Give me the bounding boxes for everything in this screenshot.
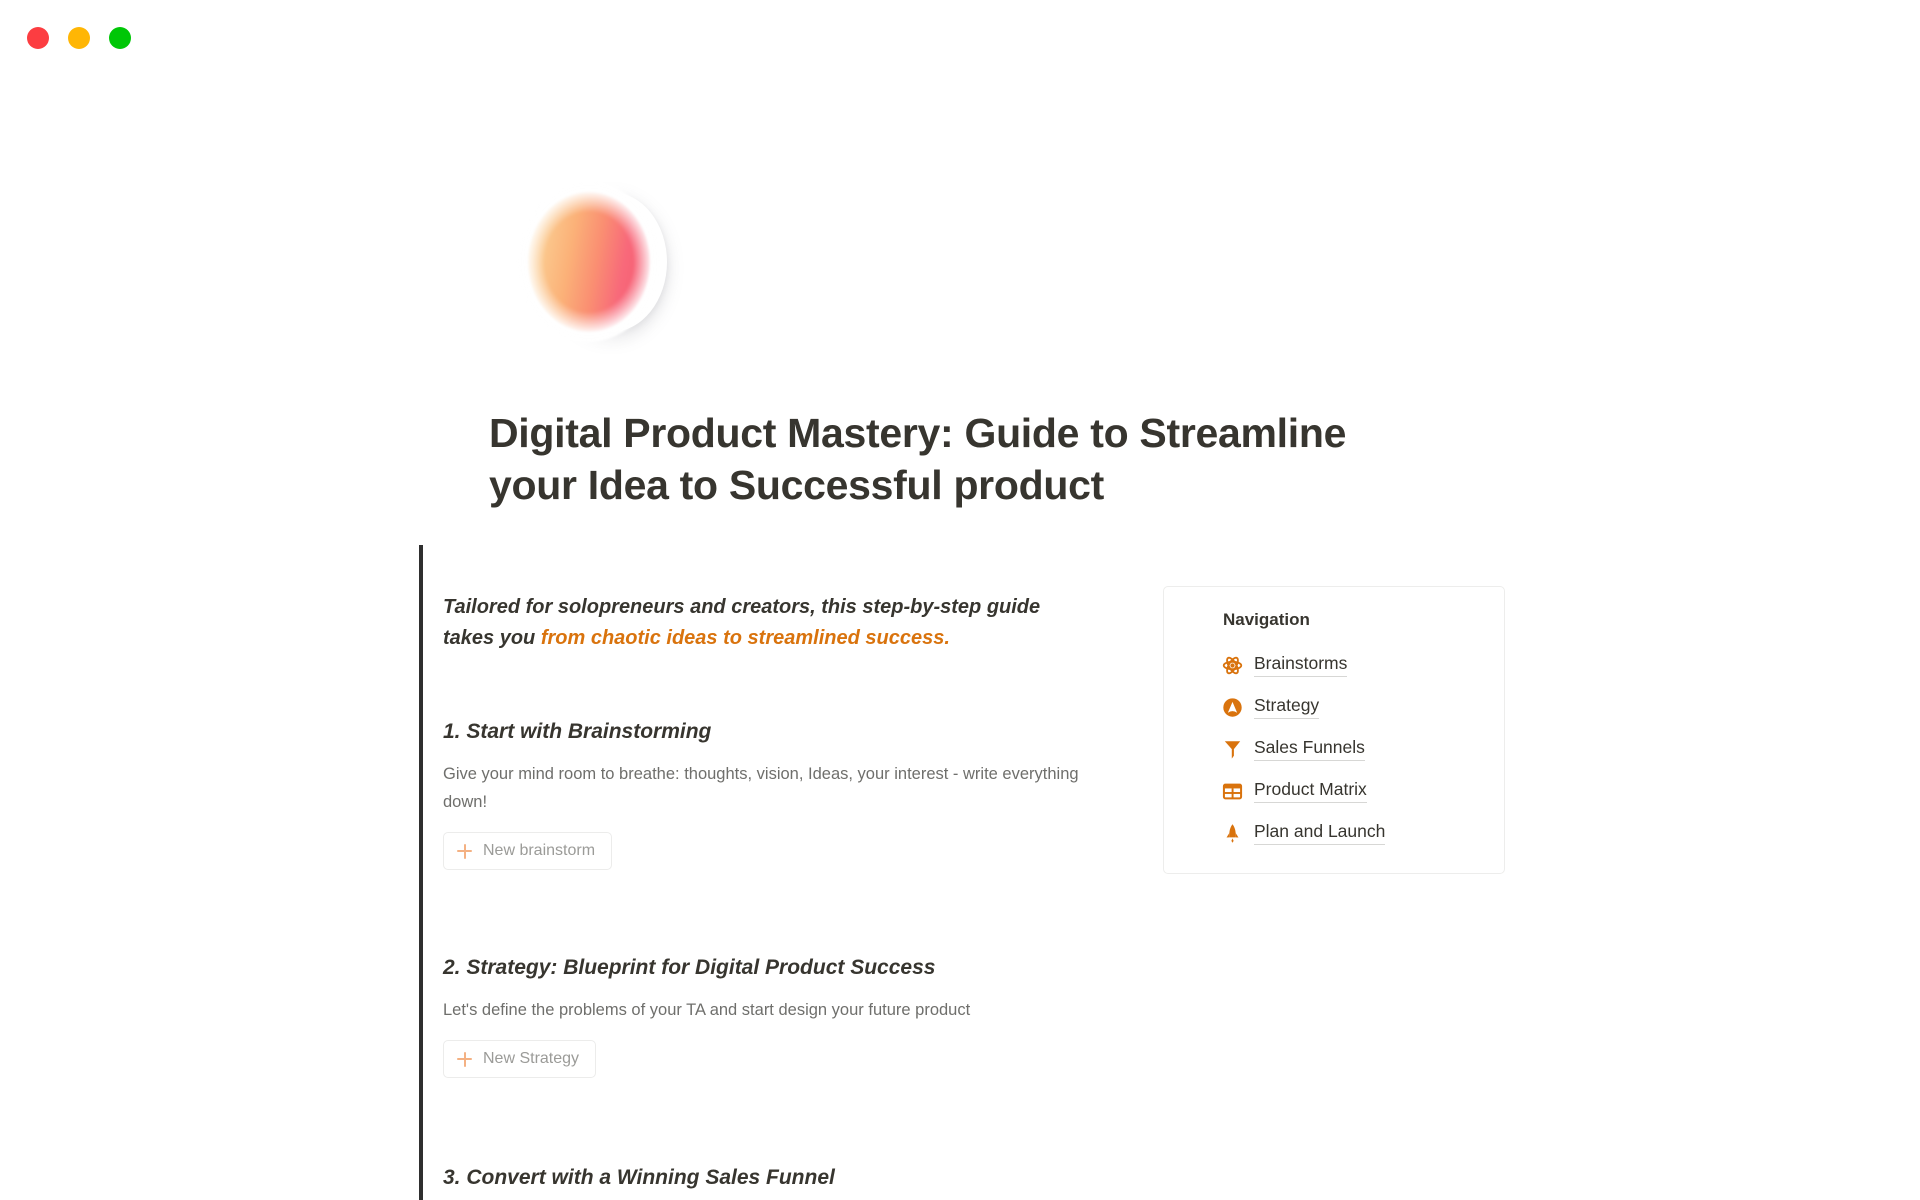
plus-icon [457,1052,472,1067]
rocket-icon [1222,823,1243,844]
new-brainstorm-button[interactable]: New brainstorm [443,832,612,870]
section-title: 2. Strategy: Blueprint for Digital Produ… [443,954,1103,982]
navigation-heading: Navigation [1223,610,1310,630]
section-body: Let's define the problems of your TA and… [443,996,1083,1024]
plus-icon [457,844,472,859]
nav-label: Brainstorms [1254,653,1347,677]
section-strategy: 2. Strategy: Blueprint for Digital Produ… [443,954,1103,1078]
nav-label: Product Matrix [1254,779,1367,803]
minimize-button[interactable] [68,27,90,49]
section-body: Give your mind room to breathe: thoughts… [443,760,1083,816]
logo-sphere-gradient [528,192,650,332]
atom-icon [1222,655,1243,676]
target-arrow-icon [1222,697,1243,718]
maximize-button[interactable] [109,27,131,49]
nav-label: Plan and Launch [1254,821,1385,845]
nav-item-plan-and-launch[interactable]: Plan and Launch [1222,812,1385,854]
window-controls [27,27,131,49]
table-grid-icon [1222,781,1243,802]
new-strategy-button[interactable]: New Strategy [443,1040,596,1078]
navigation-card: Navigation Brainstorms Strategy [1163,586,1505,874]
section-title: 3. Convert with a Winning Sales Funnel [443,1164,1103,1192]
new-strategy-label: New Strategy [483,1050,579,1068]
window-titlebar [0,0,1920,78]
close-button[interactable] [27,27,49,49]
section-brainstorming: 1. Start with Brainstorming Give your mi… [443,718,1103,870]
funnel-icon [1222,739,1243,760]
nav-item-brainstorms[interactable]: Brainstorms [1222,644,1385,686]
intro-highlight-text: from chaotic ideas to streamlined succes… [541,627,950,649]
nav-item-product-matrix[interactable]: Product Matrix [1222,770,1385,812]
intro-paragraph: Tailored for solopreneurs and creators, … [443,592,1078,654]
main-content: Tailored for solopreneurs and creators, … [443,592,1103,1192]
nav-item-sales-funnels[interactable]: Sales Funnels [1222,728,1385,770]
new-brainstorm-label: New brainstorm [483,842,595,860]
page-title: Digital Product Mastery: Guide to Stream… [489,407,1429,511]
navigation-list: Brainstorms Strategy Sales Funnels Produ… [1222,644,1385,854]
nav-item-strategy[interactable]: Strategy [1222,686,1385,728]
nav-label: Strategy [1254,695,1319,719]
gradient-sphere-logo [520,178,670,343]
section-title: 1. Start with Brainstorming [443,718,1103,746]
nav-label: Sales Funnels [1254,737,1365,761]
section-sales-funnel: 3. Convert with a Winning Sales Funnel [443,1164,1103,1192]
content-side-rule [419,545,423,1200]
